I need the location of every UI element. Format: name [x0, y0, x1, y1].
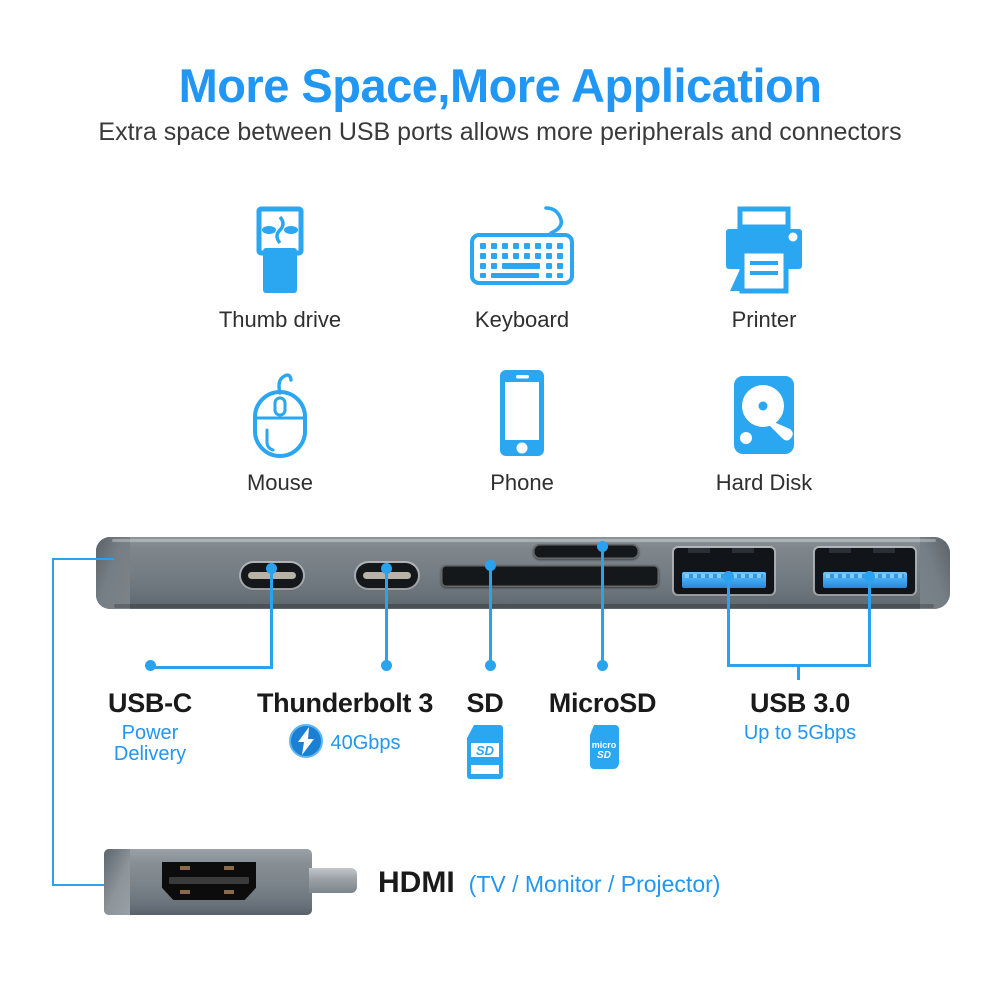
port-title: USB-C: [60, 688, 240, 719]
hdmi-sub: (TV / Monitor / Projector): [469, 871, 721, 898]
peripheral-mouse: Mouse: [180, 368, 380, 496]
hub-right-bevel: [920, 537, 950, 609]
port-usb-3-left[interactable]: [674, 548, 774, 594]
page-subtitle: Extra space between USB ports allows mor…: [0, 118, 1000, 147]
leader-line-usbc-vertical: [270, 568, 273, 668]
microsd-icon-row: micro SD: [520, 724, 685, 775]
port-sub-line2: Delivery: [60, 744, 240, 765]
port-title: USB 3.0: [700, 688, 900, 719]
port-sub: 40Gbps: [330, 733, 400, 754]
leader-line-usb3-stem: [797, 664, 800, 680]
leader-line-microsd: [601, 546, 604, 666]
svg-text:SD: SD: [597, 750, 611, 761]
hdmi-adapter: [104, 849, 356, 915]
mouse-icon: [180, 368, 380, 460]
leader-line-thunderbolt: [385, 568, 388, 666]
peripheral-printer: Printer: [664, 205, 864, 333]
peripheral-keyboard: Keyboard: [422, 205, 622, 333]
port-label-usb-3: USB 3.0 Up to 5Gbps: [700, 688, 900, 744]
hdmi-pin: [180, 866, 190, 870]
hdmi-pin: [180, 890, 190, 894]
usb-clip: [829, 548, 851, 553]
leader-dot-label-usbc: [145, 660, 156, 671]
svg-text:micro: micro: [591, 740, 616, 750]
peripheral-label: Thumb drive: [180, 307, 380, 333]
port-sub: Up to 5Gbps: [700, 723, 900, 744]
usb-hub-device: [96, 537, 950, 609]
port-usb-3-right[interactable]: [815, 548, 915, 594]
hub-top-highlight: [112, 539, 936, 542]
leader-dot-label-thunderbolt: [381, 660, 392, 671]
hdmi-port[interactable]: [162, 862, 256, 900]
printer-icon: [664, 205, 864, 297]
thunderbolt-speed-row: 40Gbps: [225, 724, 465, 763]
infographic-canvas: More Space,More Application Extra space …: [0, 0, 1000, 1000]
port-label-thunderbolt-3: Thunderbolt 3 40Gbps: [225, 688, 465, 763]
hdmi-label: HDMI (TV / Monitor / Projector): [378, 866, 720, 900]
port-label-microsd: MicroSD micro SD: [520, 688, 685, 775]
leader-line-usb3-left: [727, 576, 730, 666]
peripheral-label: Hard Disk: [664, 470, 864, 496]
port-sub-line1: Power: [60, 723, 240, 744]
port-title: Thunderbolt 3: [225, 688, 465, 719]
peripheral-label: Phone: [422, 470, 622, 496]
peripheral-label: Keyboard: [422, 307, 622, 333]
sd-card-icon: SD: [462, 724, 508, 785]
usb-clip: [873, 548, 895, 553]
leader-dot-label-microsd: [597, 660, 608, 671]
port-sd-card-slot[interactable]: [441, 565, 659, 587]
peripheral-label: Printer: [664, 307, 864, 333]
hdmi-pin: [224, 890, 234, 894]
port-title: MicroSD: [520, 688, 685, 719]
phone-icon: [422, 368, 622, 460]
page-title: More Space,More Application: [0, 58, 1000, 113]
usb-thumb-drive-icon: [180, 205, 380, 297]
usb-clip: [732, 548, 754, 553]
thunderbolt-icon: [289, 724, 323, 763]
hdmi-pin: [224, 866, 234, 870]
port-label-usb-c: USB-C Power Delivery: [60, 688, 240, 765]
leader-line-usb3-right: [868, 576, 871, 666]
leader-line-sd: [489, 565, 492, 666]
peripheral-phone: Phone: [422, 368, 622, 496]
hdmi-cable-stub: [309, 868, 357, 893]
keyboard-icon: [422, 205, 622, 297]
peripheral-thumb-drive: Thumb drive: [180, 205, 380, 333]
port-sub: Power Delivery: [60, 723, 240, 765]
microsd-card-icon: micro SD: [585, 724, 621, 775]
peripheral-label: Mouse: [180, 470, 380, 496]
svg-text:SD: SD: [476, 743, 495, 758]
port-microsd-card-slot[interactable]: [533, 544, 639, 559]
hdmi-title: HDMI: [378, 866, 455, 900]
leader-dot-label-sd: [485, 660, 496, 671]
hard-disk-icon: [664, 368, 864, 460]
hdmi-contact-bar: [169, 877, 249, 884]
usb-clip: [688, 548, 710, 553]
leader-line-usbc-horizontal: [150, 666, 273, 669]
hub-bottom-shadow: [114, 604, 934, 608]
peripheral-hard-disk: Hard Disk: [664, 368, 864, 496]
